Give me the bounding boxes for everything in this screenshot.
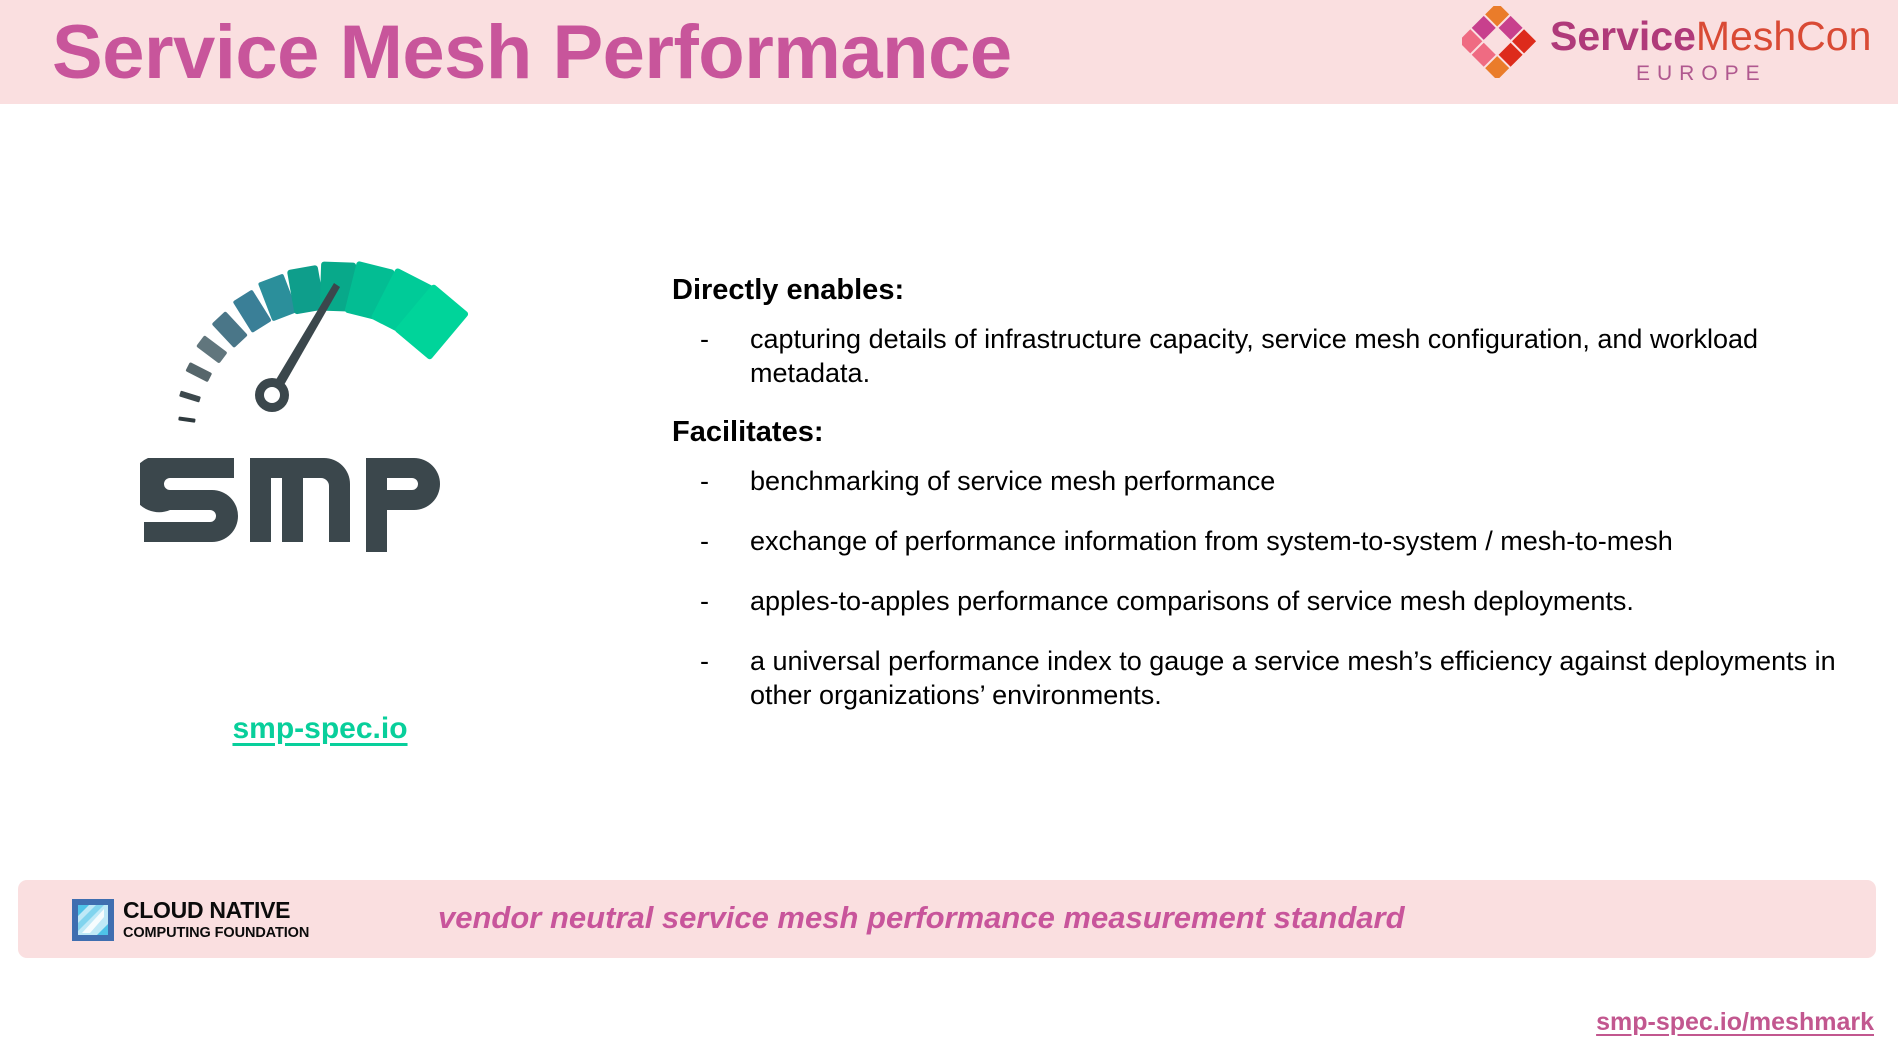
list-item: - a universal performance index to gauge… (672, 644, 1872, 712)
bullet-marker: - (672, 322, 750, 390)
list-item-text: capturing details of infrastructure capa… (750, 322, 1860, 390)
cncf-text: CLOUD NATIVE COMPUTING FOUNDATION (123, 899, 309, 941)
cncf-logo: CLOUD NATIVE COMPUTING FOUNDATION (72, 898, 309, 942)
list-item: - exchange of performance information fr… (672, 524, 1872, 558)
cncf-logo-icon (72, 899, 114, 941)
servicemeshcon-logo: ServiceMeshCon EUROPE (1440, 4, 1880, 102)
list-item: - apples-to-apples performance compariso… (672, 584, 1872, 618)
servicemeshcon-wordmark: ServiceMeshCon (1550, 10, 1871, 62)
list-item-text: a universal performance index to gauge a… (750, 644, 1860, 712)
bullet-marker: - (672, 584, 750, 618)
list-item: - capturing details of infrastructure ca… (672, 322, 1872, 390)
smp-spec-link[interactable]: smp-spec.io (60, 712, 580, 746)
list-item: - benchmarking of service mesh performan… (672, 464, 1872, 498)
list-item-text: benchmarking of service mesh performance (750, 464, 1275, 498)
heading-directly-enables: Directly enables: (672, 272, 1872, 308)
cncf-title-line2: COMPUTING FOUNDATION (123, 926, 309, 941)
smp-logo-block (60, 190, 580, 650)
smp-wordmark (140, 442, 440, 552)
servicemeshcon-diamond-mark (1462, 6, 1538, 78)
enables-list: - capturing details of infrastructure ca… (672, 322, 1872, 390)
smc-word-service: Service (1550, 13, 1696, 59)
meshmark-link[interactable]: smp-spec.io/meshmark (1596, 1008, 1874, 1037)
smc-word-meshcon: MeshCon (1696, 13, 1871, 59)
heading-facilitates: Facilitates: (672, 414, 1872, 450)
performance-gauge (60, 190, 580, 440)
facilitates-list: - benchmarking of service mesh performan… (672, 464, 1872, 712)
bullet-marker: - (672, 464, 750, 498)
list-item-text: apples-to-apples performance comparisons… (750, 584, 1634, 618)
footer-tagline: vendor neutral service mesh performance … (438, 900, 1405, 936)
cncf-title-line1: CLOUD NATIVE (123, 899, 309, 922)
content-area: Directly enables: - capturing details of… (672, 272, 1872, 712)
bullet-marker: - (672, 644, 750, 712)
bullet-marker: - (672, 524, 750, 558)
list-item-text: exchange of performance information from… (750, 524, 1673, 558)
page-title: Service Mesh Performance (52, 8, 1012, 98)
servicemeshcon-region: EUROPE (1636, 62, 1767, 86)
